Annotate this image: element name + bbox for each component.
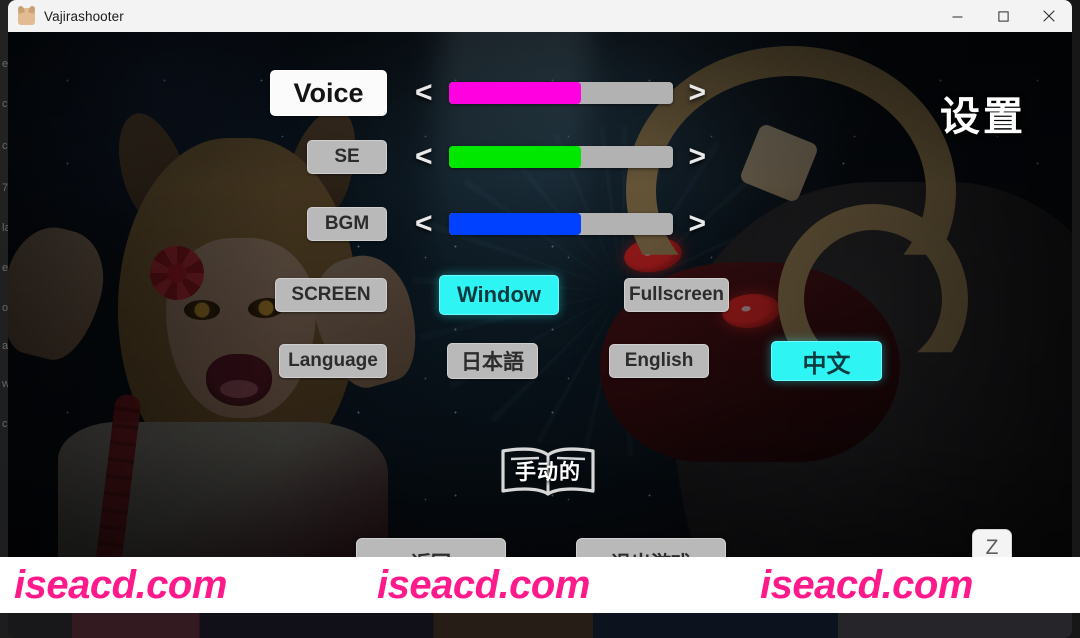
se-increase-arrow[interactable]: > [689,142,707,172]
voice-slider-fill [449,82,581,104]
title-bar[interactable]: Vajirashooter [8,0,1072,32]
maximize-icon[interactable] [980,0,1026,32]
game-viewport: 设置 Voice < > SE < [8,32,1072,620]
app-icon [18,8,35,25]
voice-label-button[interactable]: Voice [270,70,387,116]
bgm-label-button[interactable]: BGM [307,207,387,241]
watermark-text: iseacd.com [760,563,973,608]
watermark-text: iseacd.com [14,563,227,608]
manual-button-label: 手动的 [495,445,601,497]
bgm-increase-arrow[interactable]: > [689,209,707,239]
voice-slider[interactable] [449,82,673,104]
settings-ui: 设置 Voice < > SE < [8,32,1072,620]
se-slider[interactable] [449,146,673,168]
se-label-button[interactable]: SE [307,140,387,174]
bgm-slider-fill [449,213,581,235]
screenshot-root: e c c 7 la e o a w c Vajirashooter [0,0,1080,638]
watermark-text: iseacd.com [377,563,590,608]
watermark-banner: iseacd.com iseacd.com iseacd.com [0,557,1080,613]
window-controls [934,0,1072,32]
page-title: 设置 [940,84,1026,142]
window-bottom-strip [8,613,1072,638]
settings-row-se: SE < > [270,140,706,174]
screen-option-window[interactable]: Window [439,275,559,315]
language-option-japanese[interactable]: 日本語 [447,343,538,379]
window-title: Vajirashooter [44,9,124,24]
settings-row-screen: SCREEN Window Fullscreen [270,275,729,315]
settings-row-voice: Voice < > [270,70,706,116]
voice-decrease-arrow[interactable]: < [415,78,433,108]
close-icon[interactable] [1026,0,1072,32]
bgm-slider[interactable] [449,213,673,235]
screen-label-button[interactable]: SCREEN [275,278,387,312]
se-decrease-arrow[interactable]: < [415,142,433,172]
language-option-chinese[interactable]: 中文 [771,341,882,381]
se-slider-fill [449,146,581,168]
screen-option-fullscreen[interactable]: Fullscreen [624,278,729,312]
minimize-icon[interactable] [934,0,980,32]
bgm-decrease-arrow[interactable]: < [415,209,433,239]
settings-row-language: Language 日本語 English 中文 [270,341,882,381]
settings-row-bgm: BGM < > [270,207,706,241]
voice-increase-arrow[interactable]: > [689,78,707,108]
application-window: Vajirashooter [0,0,1080,638]
manual-button[interactable]: 手动的 [495,445,601,497]
language-label-button[interactable]: Language [279,344,387,378]
language-option-english[interactable]: English [609,344,709,378]
